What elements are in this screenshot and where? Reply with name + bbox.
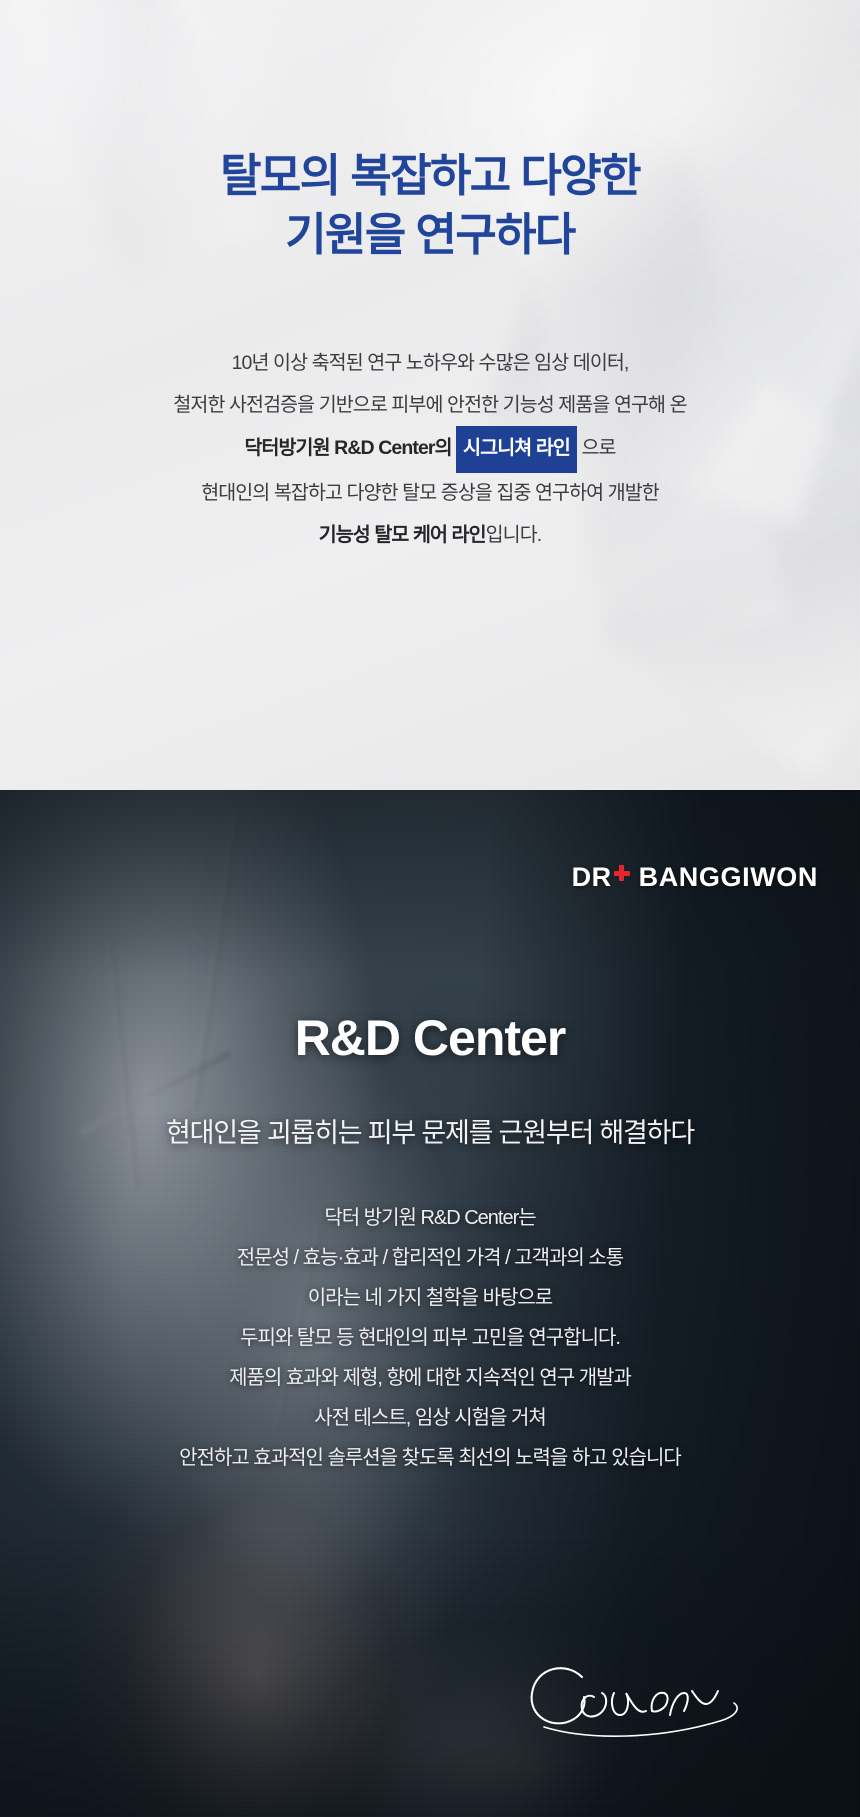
rnd-body-line: 사전 테스트, 임상 시험을 거쳐	[0, 1398, 860, 1438]
rnd-center-paragraph: 닥터 방기원 R&D Center는 전문성 / 효능·효과 / 합리적인 가격…	[0, 1198, 860, 1478]
hero-paragraph-bold-brand: 닥터방기원 R&D Center의	[244, 437, 451, 459]
hero-paragraph-line-5-suffix: 입니다.	[486, 524, 542, 546]
rnd-body-line: 닥터 방기원 R&D Center는	[0, 1198, 860, 1238]
brand-logo-prefix: DR	[572, 862, 612, 893]
medical-cross-icon	[614, 865, 630, 881]
hero-paragraph-bold-care-line: 기능성 탈모 케어 라인	[319, 524, 486, 546]
hero-paragraph-line-4: 현대인의 복잡하고 다양한 탈모 증상을 집중 연구하여 개발한	[0, 473, 860, 515]
hero-paragraph: 10년 이상 축적된 연구 노하우와 수많은 임상 데이터, 철저한 사전검증을…	[0, 343, 860, 557]
hero-paragraph-line-3: 닥터방기원 R&D Center의 시그니쳐 라인 으로	[0, 426, 860, 473]
hero-section: 탈모의 복잡하고 다양한 기원을 연구하다 10년 이상 축적된 연구 노하우와…	[0, 0, 860, 790]
rnd-body-line: 안전하고 효과적인 솔루션을 찾도록 최선의 노력을 하고 있습니다	[0, 1438, 860, 1478]
brand-logo-name: BANGGIWON	[639, 862, 818, 893]
rnd-body-line: 제품의 효과와 제형, 향에 대한 지속적인 연구 개발과	[0, 1358, 860, 1398]
rnd-body-line: 두피와 탈모 등 현대인의 피부 고민을 연구합니다.	[0, 1318, 860, 1358]
signature-line-highlight: 시그니쳐 라인	[456, 426, 577, 473]
brand-logo: DR BANGGIWON	[572, 862, 818, 893]
hero-paragraph-line-3-suffix: 으로	[581, 437, 615, 459]
hero-title-line-2: 기원을 연구하다	[0, 205, 860, 264]
rnd-center-section: DR BANGGIWON R&D Center 현대인을 괴롭히는 피부 문제를…	[0, 790, 860, 1817]
hero-paragraph-line-1: 10년 이상 축적된 연구 노하우와 수많은 임상 데이터,	[0, 343, 860, 385]
handwritten-signature	[520, 1649, 770, 1745]
rnd-center-headline: R&D Center	[0, 1009, 860, 1067]
hero-paragraph-line-2: 철저한 사전검증을 기반으로 피부에 안전한 기능성 제품을 연구해 온	[0, 385, 860, 427]
rnd-body-line: 이라는 네 가지 철학을 바탕으로	[0, 1278, 860, 1318]
hero-title-line-1: 탈모의 복잡하고 다양한	[0, 146, 860, 205]
rnd-body-line: 전문성 / 효능·효과 / 합리적인 가격 / 고객과의 소통	[0, 1238, 860, 1278]
rnd-center-subhead: 현대인을 괴롭히는 피부 문제를 근원부터 해결하다	[0, 1111, 860, 1150]
hero-title: 탈모의 복잡하고 다양한 기원을 연구하다	[0, 146, 860, 265]
hero-paragraph-line-5: 기능성 탈모 케어 라인입니다.	[0, 515, 860, 557]
